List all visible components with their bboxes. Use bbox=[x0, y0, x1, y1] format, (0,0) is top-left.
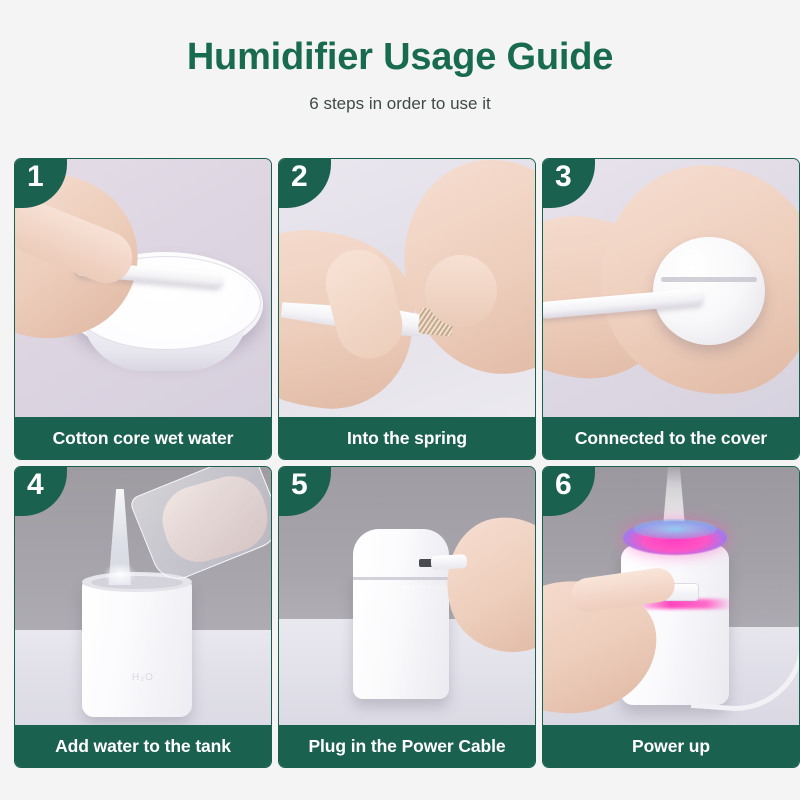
usage-guide-page: Humidifier Usage Guide 6 steps in order … bbox=[0, 0, 800, 800]
water-tank bbox=[82, 579, 192, 717]
step-photo-3 bbox=[543, 159, 799, 417]
step-card-6[interactable]: 6 Power up bbox=[542, 466, 800, 768]
step-photo-5 bbox=[279, 467, 535, 725]
step-photo-2 bbox=[279, 159, 535, 417]
step-card-4[interactable]: 4 H₂O Add water to the tank bbox=[14, 466, 272, 768]
page-subtitle: 6 steps in order to use it bbox=[0, 95, 800, 112]
step-card-3[interactable]: 3 Connected to the cover bbox=[542, 158, 800, 460]
step-card-2[interactable]: 2 Into the spring bbox=[278, 158, 536, 460]
power-cable-plug bbox=[431, 554, 468, 570]
step-caption-3: Connected to the cover bbox=[543, 417, 799, 459]
body-seam bbox=[353, 577, 449, 580]
step-photo-1 bbox=[15, 159, 271, 417]
step-caption-1: Cotton core wet water bbox=[15, 417, 271, 459]
step-photo-4: H₂O bbox=[15, 467, 271, 725]
page-title: Humidifier Usage Guide bbox=[0, 38, 800, 76]
step-caption-2: Into the spring bbox=[279, 417, 535, 459]
water-splash bbox=[103, 563, 137, 585]
step-card-1[interactable]: 1 Cotton core wet water bbox=[14, 158, 272, 460]
step-caption-5: Plug in the Power Cable bbox=[279, 725, 535, 767]
step-card-5[interactable]: 5 Plug in the Power Cable bbox=[278, 466, 536, 768]
page-header: Humidifier Usage Guide 6 steps in order … bbox=[0, 0, 800, 112]
humidifier-body bbox=[353, 573, 449, 699]
step-caption-4: Add water to the tank bbox=[15, 725, 271, 767]
led-highlight bbox=[633, 519, 717, 539]
step-photo-6 bbox=[543, 467, 799, 725]
tank-h2o-label: H₂O bbox=[15, 672, 271, 683]
step-caption-6: Power up bbox=[543, 725, 799, 767]
steps-grid: 1 Cotton core wet water 2 bbox=[14, 158, 800, 768]
cover-seam bbox=[661, 277, 757, 282]
